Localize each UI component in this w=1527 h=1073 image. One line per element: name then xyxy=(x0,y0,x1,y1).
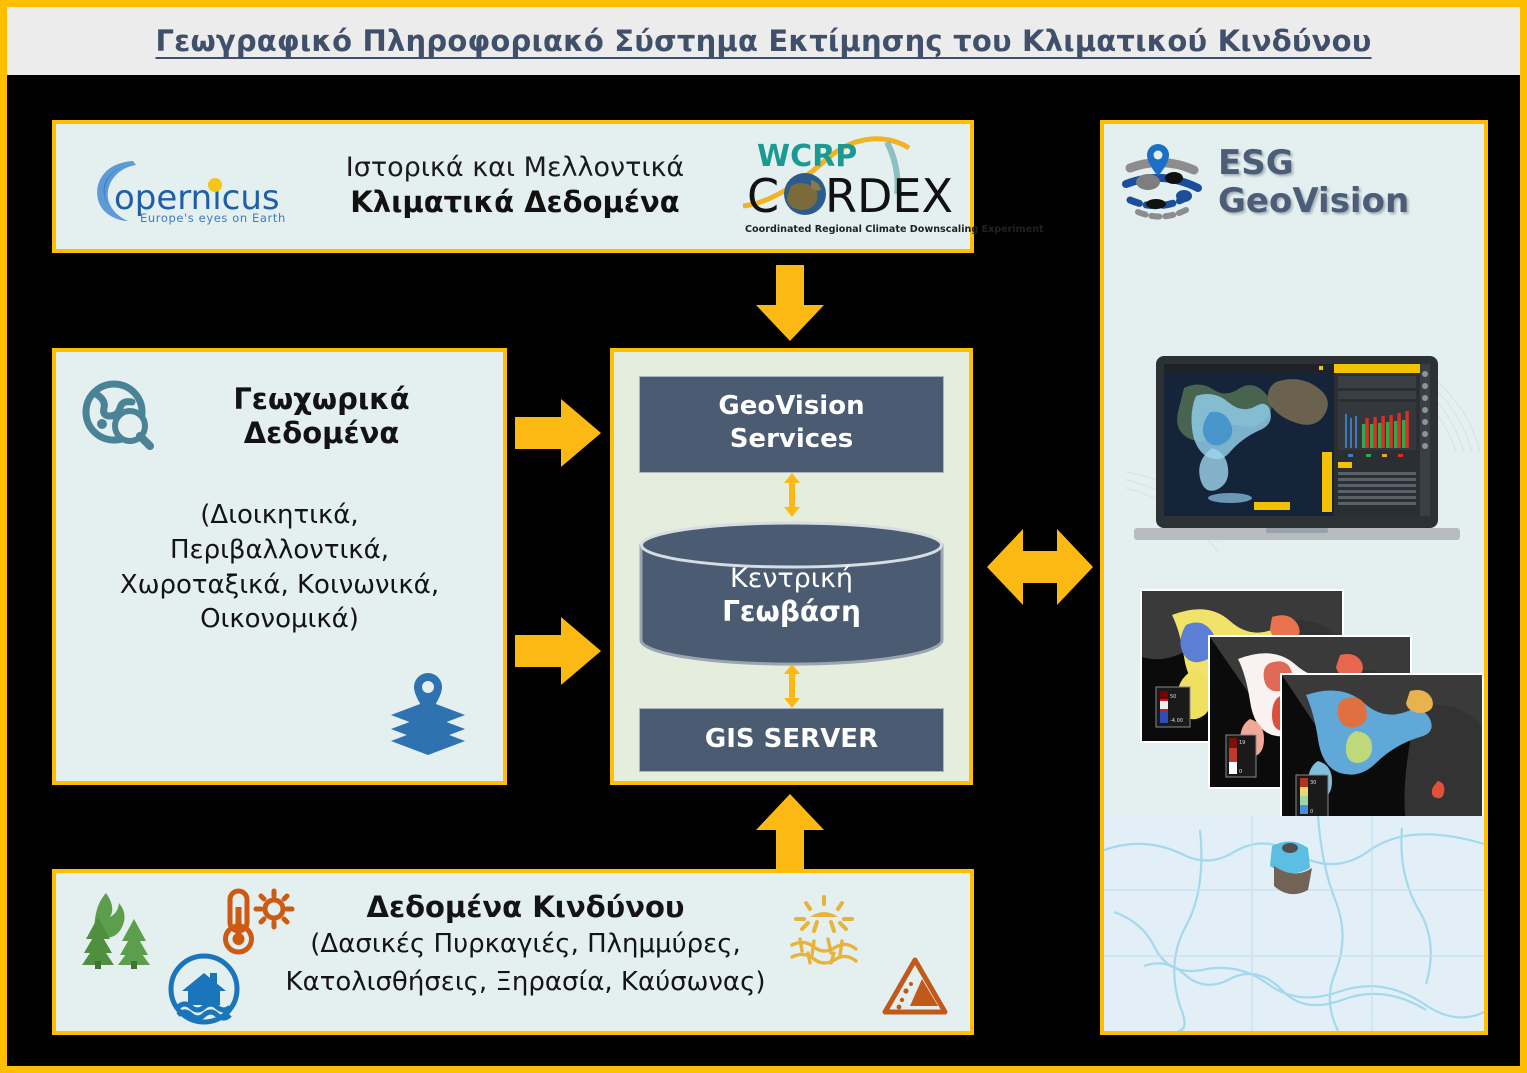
geospatial-subtext: (Διοικητικά, Περιβαλλοντικά, Χωροταξικά,… xyxy=(74,498,485,637)
arrow-core-to-esg xyxy=(987,525,1093,609)
cordex-caption: Coordinated Regional Climate Downscaling… xyxy=(745,224,1044,235)
geovision-services-line-1: GeoVision xyxy=(640,390,943,423)
cordex-c: C xyxy=(747,169,779,223)
map-thumbnail-3: 30 0 xyxy=(1280,673,1484,827)
central-geodatabase-cylinder: Κεντρική Γεωβάση xyxy=(638,521,945,664)
risk-title: Δεδομένα Κινδύνου xyxy=(256,890,795,924)
geodatabase-line-2: Γεωβάση xyxy=(638,595,945,629)
geospatial-sub-line-3: Χωροταξικά, Κοινωνικά, xyxy=(74,568,485,603)
gis-server-block: GIS SERVER xyxy=(639,708,944,772)
diagram-root: Γεωγραφικό Πληροφοριακό Σύστημα Εκτίμηση… xyxy=(0,0,1527,1073)
geospatial-sub-line-4: Οικονομικά) xyxy=(74,602,485,637)
svg-text:30: 30 xyxy=(1310,780,1316,786)
copernicus-tagline: Europe's eyes on Earth xyxy=(140,211,286,225)
climate-line-2: Κλιματικά Δεδομένα xyxy=(293,185,737,220)
pushpin-map-photo xyxy=(1104,816,1484,1031)
core-system-box: GeoVision Services Κεντρική Γεωβάση GIS … xyxy=(610,348,973,785)
svg-text:0: 0 xyxy=(1239,769,1242,775)
svg-text:19: 19 xyxy=(1239,740,1245,746)
svg-text:0: 0 xyxy=(1310,809,1313,815)
geospatial-heading: Γεωχωρικά Δεδομένα xyxy=(80,378,503,454)
page-title: Γεωγραφικό Πληροφοριακό Σύστημα Εκτίμηση… xyxy=(155,24,1371,58)
copernicus-logo: opernicus Europe's eyes on Earth xyxy=(78,147,293,227)
risk-data-box: Δεδομένα Κινδύνου (Δασικές Πυρκαγιές, Πλ… xyxy=(52,869,974,1035)
drought-icon xyxy=(788,895,860,967)
geospatial-data-box: Γεωχωρικά Δεδομένα (Διοικητικά, Περιβαλλ… xyxy=(52,348,507,785)
double-headed-vertical-arrow-icon xyxy=(783,473,801,517)
geospatial-sub-line-2: Περιβαλλοντικά, xyxy=(74,533,485,568)
arrow-geospatial-to-gisserver xyxy=(515,615,603,687)
geospatial-heading-line-1: Γεωχωρικά xyxy=(170,382,473,416)
climate-data-box: opernicus Europe's eyes on Earth Ιστορικ… xyxy=(52,120,974,253)
esg-header: ESG GeoVision xyxy=(1104,124,1484,226)
wcrp-cordex-logo: WCRP C RDEX Coordinated Regional Climate… xyxy=(737,132,952,242)
geospatial-heading-text: Γεωχωρικά Δεδομένα xyxy=(170,382,503,450)
climate-data-text: Ιστορικά και Μελλοντικά Κλιματικά Δεδομέ… xyxy=(293,152,737,220)
svg-text:50: 50 xyxy=(1170,694,1176,700)
risk-sub-line-2: Κατολισθήσεις, Ξηρασία, Καύσωνας) xyxy=(256,966,795,1000)
esg-title-line-2: GeoVision xyxy=(1218,182,1409,220)
arrow-risk-to-core xyxy=(754,792,826,870)
services-db-link xyxy=(783,473,801,517)
esg-title-line-1: ESG xyxy=(1218,144,1409,182)
flood-icon xyxy=(166,951,242,1027)
arrow-geospatial-to-services xyxy=(515,397,603,469)
arrow-climate-to-core xyxy=(754,265,826,343)
esg-geovision-panel: ESG GeoVision xyxy=(1100,120,1488,1035)
map-layers-pin-icon xyxy=(389,671,467,755)
greece-map-thumbnails: 50 -4.00 19 xyxy=(1140,589,1470,829)
geospatial-heading-line-2: Δεδομένα xyxy=(170,416,473,450)
svg-text:-4.00: -4.00 xyxy=(1170,718,1183,724)
risk-data-text: Δεδομένα Κινδύνου (Δασικές Πυρκαγιές, Πλ… xyxy=(256,890,795,1000)
central-geodatabase-label: Κεντρική Γεωβάση xyxy=(638,563,945,629)
double-headed-vertical-arrow-icon xyxy=(783,664,801,708)
geospatial-sub-line-1: (Διοικητικά, xyxy=(74,498,485,533)
risk-sub-line-1: (Δασικές Πυρκαγιές, Πλημμύρες, xyxy=(256,928,795,962)
climate-line-1: Ιστορικά και Μελλοντικά xyxy=(293,152,737,185)
geovision-services-line-2: Services xyxy=(640,423,943,456)
laptop-gis-application-screenshot xyxy=(1126,352,1468,552)
globe-search-icon xyxy=(80,378,156,454)
db-gisserver-link xyxy=(783,664,801,708)
geovision-services-block: GeoVision Services xyxy=(639,376,944,473)
esg-globe-pin-logo-icon xyxy=(1118,138,1206,226)
title-bar: Γεωγραφικό Πληροφοριακό Σύστημα Εκτίμηση… xyxy=(7,7,1520,75)
geodatabase-line-1: Κεντρική xyxy=(638,563,945,595)
cordex-rdex: RDEX xyxy=(825,169,953,223)
landslide-warning-icon xyxy=(882,957,948,1017)
esg-title: ESG GeoVision xyxy=(1218,144,1409,220)
forest-fire-icon xyxy=(76,891,158,969)
